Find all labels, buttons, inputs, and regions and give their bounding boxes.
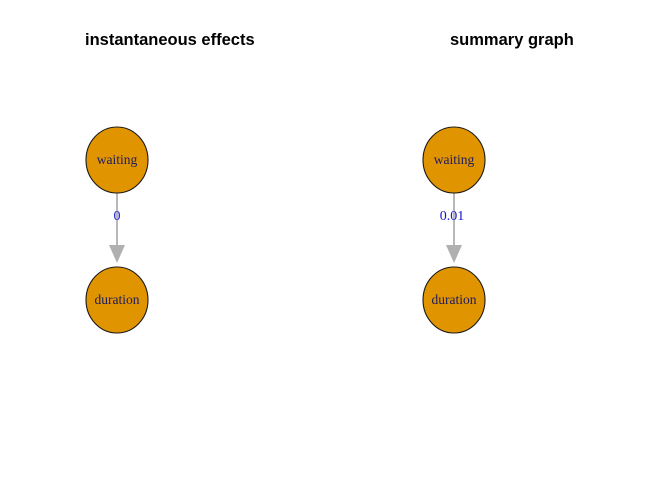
node-label-duration: duration	[95, 292, 140, 307]
node-duration-right[interactable]: duration	[423, 267, 485, 333]
node-waiting-left[interactable]: waiting	[86, 127, 148, 193]
arrowhead-icon	[446, 245, 462, 263]
arrowhead-icon	[109, 245, 125, 263]
edge-label-summary: 0.01	[440, 209, 465, 224]
node-label-waiting: waiting	[434, 152, 475, 167]
node-duration-left[interactable]: duration	[86, 267, 148, 333]
node-waiting-right[interactable]: waiting	[423, 127, 485, 193]
edge-waiting-to-duration-left: 0	[109, 193, 125, 263]
figure-canvas: instantaneous effects summary graph 0 wa…	[0, 0, 672, 480]
panel-summary-graph: 0.01 waiting duration	[423, 127, 485, 333]
edge-label-instantaneous: 0	[114, 209, 121, 224]
panel-instantaneous-effects: 0 waiting duration	[86, 127, 148, 333]
node-label-waiting: waiting	[97, 152, 138, 167]
node-label-duration: duration	[432, 292, 477, 307]
graph-drawing-area: 0 waiting duration 0.01	[0, 0, 672, 480]
edge-waiting-to-duration-right: 0.01	[440, 193, 465, 263]
